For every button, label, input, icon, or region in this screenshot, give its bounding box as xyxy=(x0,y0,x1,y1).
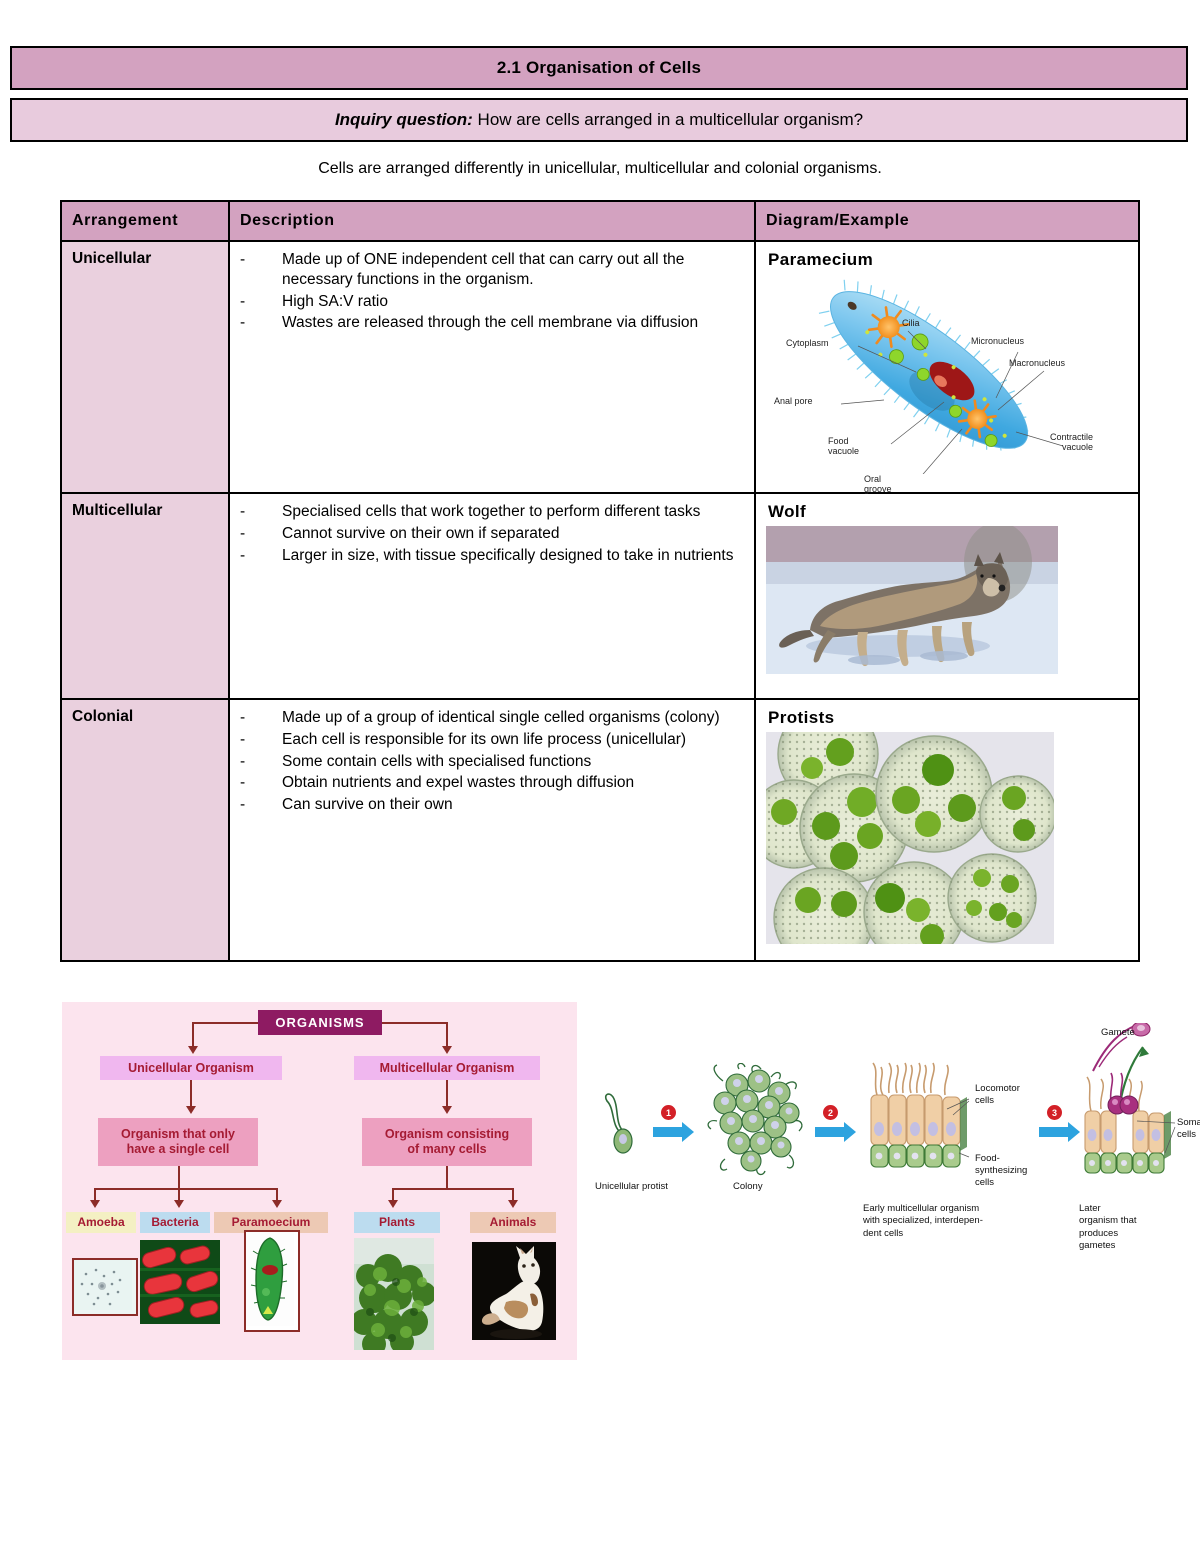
animals-photo xyxy=(472,1242,556,1340)
paramecium-label-micronucleus: Micronucleus xyxy=(971,336,1024,346)
bullet-marker: - xyxy=(240,795,282,815)
column-header-arrangement: Arrangement xyxy=(61,201,229,241)
diagram-cell-wolf: Wolf xyxy=(755,493,1139,699)
flow-arrow xyxy=(442,1046,452,1054)
column-header-diagram: Diagram/Example xyxy=(755,201,1139,241)
bullet-text: Cannot survive on their own if separated xyxy=(282,524,744,544)
flow-connector xyxy=(276,1188,278,1200)
bacteria-photo xyxy=(140,1240,220,1324)
flow-connector xyxy=(392,1188,394,1200)
flow-connector xyxy=(382,1022,448,1024)
flow-connector xyxy=(190,1080,192,1106)
bullet-text: Specialised cells that work together to … xyxy=(282,502,744,522)
column-header-description: Description xyxy=(229,201,755,241)
flow-arrow xyxy=(186,1106,196,1114)
bullet-marker: - xyxy=(240,730,282,750)
flow-connector xyxy=(512,1188,514,1200)
flow-arrow xyxy=(90,1200,100,1208)
evolution-arrow-1 xyxy=(653,1127,683,1137)
flow-connector xyxy=(446,1080,448,1106)
table-row: Unicellular -Made up of ONE independent … xyxy=(61,241,1139,493)
volvox-illustration xyxy=(766,732,1054,944)
plants-illustration xyxy=(354,1238,434,1350)
bullet-marker: - xyxy=(240,708,282,728)
list-item: -Wastes are released through the cell me… xyxy=(240,313,744,333)
description-colonial: -Made up of a group of identical single … xyxy=(229,699,755,961)
evolution-label-food-synthesizing-cells: Food- synthesizing cells xyxy=(975,1153,1027,1189)
diagram-title: Wolf xyxy=(768,502,1128,522)
flow-leaf-amoeba: Amoeba xyxy=(66,1212,136,1233)
arrangement-colonial: Colonial xyxy=(61,699,229,961)
evolution-label-locomotor-cells: Locomotor cells xyxy=(975,1083,1020,1107)
evolution-step-3: 3 xyxy=(1047,1105,1062,1120)
evolution-caption-early-multicellular: Early multicellular organism with specia… xyxy=(863,1203,983,1240)
flow-connector xyxy=(94,1188,278,1190)
flow-multicellular-organism: Multicellular Organism xyxy=(354,1056,540,1080)
bullet-text: High SA:V ratio xyxy=(282,292,744,312)
list-item: -Each cell is responsible for its own li… xyxy=(240,730,744,750)
inquiry-question-text: Inquiry question: How are cells arranged… xyxy=(335,110,863,130)
bullet-text: Made up of ONE independent cell that can… xyxy=(282,250,744,290)
flow-connector xyxy=(446,1166,448,1188)
evolution-label-gamete: Gamete xyxy=(1101,1027,1135,1039)
list-item: -Made up of a group of identical single … xyxy=(240,708,744,728)
bullet-marker: - xyxy=(240,250,282,290)
paramecium-diagram: Cilia Cytoplasm Anal pore Food vacuole O… xyxy=(766,274,1126,479)
list-item: -Made up of ONE independent cell that ca… xyxy=(240,250,744,290)
inquiry-body: How are cells arranged in a multicellula… xyxy=(473,110,863,129)
list-item: -Can survive on their own xyxy=(240,795,744,815)
paramecium-label-contractile-vacuole: Contractile vacuole xyxy=(1050,432,1093,453)
list-item: -Some contain cells with specialised fun… xyxy=(240,752,744,772)
flow-connector xyxy=(94,1188,96,1200)
colony-illustration xyxy=(705,1063,805,1177)
paramecium-label-macronucleus: Macronucleus xyxy=(1009,358,1065,368)
amoeba-illustration xyxy=(74,1260,132,1310)
arrangement-multicellular: Multicellular xyxy=(61,493,229,699)
paramoecium-photo xyxy=(244,1230,300,1332)
bullet-text: Obtain nutrients and expel wastes throug… xyxy=(282,773,744,793)
inquiry-question-banner: Inquiry question: How are cells arranged… xyxy=(10,98,1188,142)
flow-arrow xyxy=(388,1200,398,1208)
wolf-illustration xyxy=(766,526,1058,674)
early-multicellular-illustration xyxy=(863,1061,973,1179)
bullet-list: -Made up of ONE independent cell that ca… xyxy=(240,250,744,333)
flow-leaf-animals: Animals xyxy=(470,1212,556,1233)
arrangement-unicellular: Unicellular xyxy=(61,241,229,493)
evolution-caption-later-organism: Later organism that produces gametes xyxy=(1079,1203,1140,1252)
flow-connector xyxy=(392,1188,514,1190)
evolution-step-1: 1 xyxy=(661,1105,676,1120)
flow-arrow xyxy=(272,1200,282,1208)
organisation-table: Arrangement Description Diagram/Example … xyxy=(60,200,1140,962)
bullet-text: Made up of a group of identical single c… xyxy=(282,708,744,728)
flow-unicellular-organism: Unicellular Organism xyxy=(100,1056,282,1080)
diagram-title: Protists xyxy=(768,708,1128,728)
inquiry-label: Inquiry question: xyxy=(335,110,473,129)
bullet-marker: - xyxy=(240,752,282,772)
evolution-arrow-2 xyxy=(815,1127,845,1137)
flow-arrow xyxy=(174,1200,184,1208)
flow-arrow xyxy=(442,1106,452,1114)
table-row: Colonial -Made up of a group of identica… xyxy=(61,699,1139,961)
flow-connector xyxy=(192,1022,258,1024)
protists-photo xyxy=(766,732,1054,944)
evolution-arrow-3 xyxy=(1039,1127,1069,1137)
flow-unicellular-description: Organism that only have a single cell xyxy=(98,1118,258,1166)
paramoecium-illustration xyxy=(246,1232,294,1326)
intro-sentence: Cells are arranged differently in unicel… xyxy=(0,160,1200,178)
description-multicellular: -Specialised cells that work together to… xyxy=(229,493,755,699)
paramecium-label-anal-pore: Anal pore xyxy=(774,396,813,406)
evolution-label-somatic-cells: Somatic cells xyxy=(1177,1117,1200,1141)
bullet-list: -Made up of a group of identical single … xyxy=(240,708,744,815)
multicellularity-evolution-diagram: Unicellular protist 1 Colony 2 xyxy=(595,1005,1140,1245)
table-row: Multicellular -Specialised cells that wo… xyxy=(61,493,1139,699)
bullet-marker: - xyxy=(240,313,282,333)
evolution-caption-protist: Unicellular protist xyxy=(595,1181,668,1193)
list-item: -Specialised cells that work together to… xyxy=(240,502,744,522)
bullet-marker: - xyxy=(240,292,282,312)
wolf-photo xyxy=(766,526,1058,674)
bullet-list: -Specialised cells that work together to… xyxy=(240,502,744,565)
list-item: -Obtain nutrients and expel wastes throu… xyxy=(240,773,744,793)
flow-root-organisms: ORGANISMS xyxy=(258,1010,382,1035)
later-organism-illustration xyxy=(1079,1023,1199,1183)
paramecium-label-cilia: Cilia xyxy=(902,318,920,328)
bullet-text: Some contain cells with specialised func… xyxy=(282,752,744,772)
evolution-caption-colony: Colony xyxy=(733,1181,763,1193)
paramecium-label-cytoplasm: Cytoplasm xyxy=(786,338,829,348)
bullet-marker: - xyxy=(240,546,282,566)
flow-multicellular-description: Organism consisting of many cells xyxy=(362,1118,532,1166)
amoeba-photo xyxy=(72,1258,138,1316)
flow-arrow xyxy=(508,1200,518,1208)
bullet-text: Each cell is responsible for its own lif… xyxy=(282,730,744,750)
diagram-cell-paramecium: Paramecium xyxy=(755,241,1139,493)
bullet-text: Wastes are released through the cell mem… xyxy=(282,313,744,333)
flow-connector xyxy=(178,1188,180,1200)
table-header-row: Arrangement Description Diagram/Example xyxy=(61,201,1139,241)
unicellular-protist-illustration xyxy=(601,1085,643,1165)
list-item: -High SA:V ratio xyxy=(240,292,744,312)
bullet-text: Can survive on their own xyxy=(282,795,744,815)
plants-photo xyxy=(354,1238,434,1350)
bullet-marker: - xyxy=(240,524,282,544)
bacteria-illustration xyxy=(140,1240,220,1324)
flow-leaf-bacteria: Bacteria xyxy=(140,1212,210,1233)
list-item: -Larger in size, with tissue specificall… xyxy=(240,546,744,566)
bullet-marker: - xyxy=(240,773,282,793)
diagram-cell-protists: Protists xyxy=(755,699,1139,961)
bullet-marker: - xyxy=(240,502,282,522)
flow-connector xyxy=(178,1166,180,1188)
organisms-flowchart: ORGANISMS Unicellular Organism Multicell… xyxy=(62,1002,577,1360)
cat-illustration xyxy=(472,1242,556,1340)
flow-arrow xyxy=(188,1046,198,1054)
bullet-text: Larger in size, with tissue specifically… xyxy=(282,546,744,566)
flow-connector xyxy=(446,1022,448,1046)
flow-connector xyxy=(192,1022,194,1046)
section-title-banner: 2.1 Organisation of Cells xyxy=(10,46,1188,90)
page-title: 2.1 Organisation of Cells xyxy=(497,58,701,78)
evolution-step-2: 2 xyxy=(823,1105,838,1120)
flow-leaf-plants: Plants xyxy=(354,1212,440,1233)
paramecium-label-food-vacuole: Food vacuole xyxy=(828,436,859,457)
diagram-title: Paramecium xyxy=(768,250,1128,270)
list-item: -Cannot survive on their own if separate… xyxy=(240,524,744,544)
paramecium-label-oral-groove: Oral groove xyxy=(864,474,892,495)
description-unicellular: -Made up of ONE independent cell that ca… xyxy=(229,241,755,493)
